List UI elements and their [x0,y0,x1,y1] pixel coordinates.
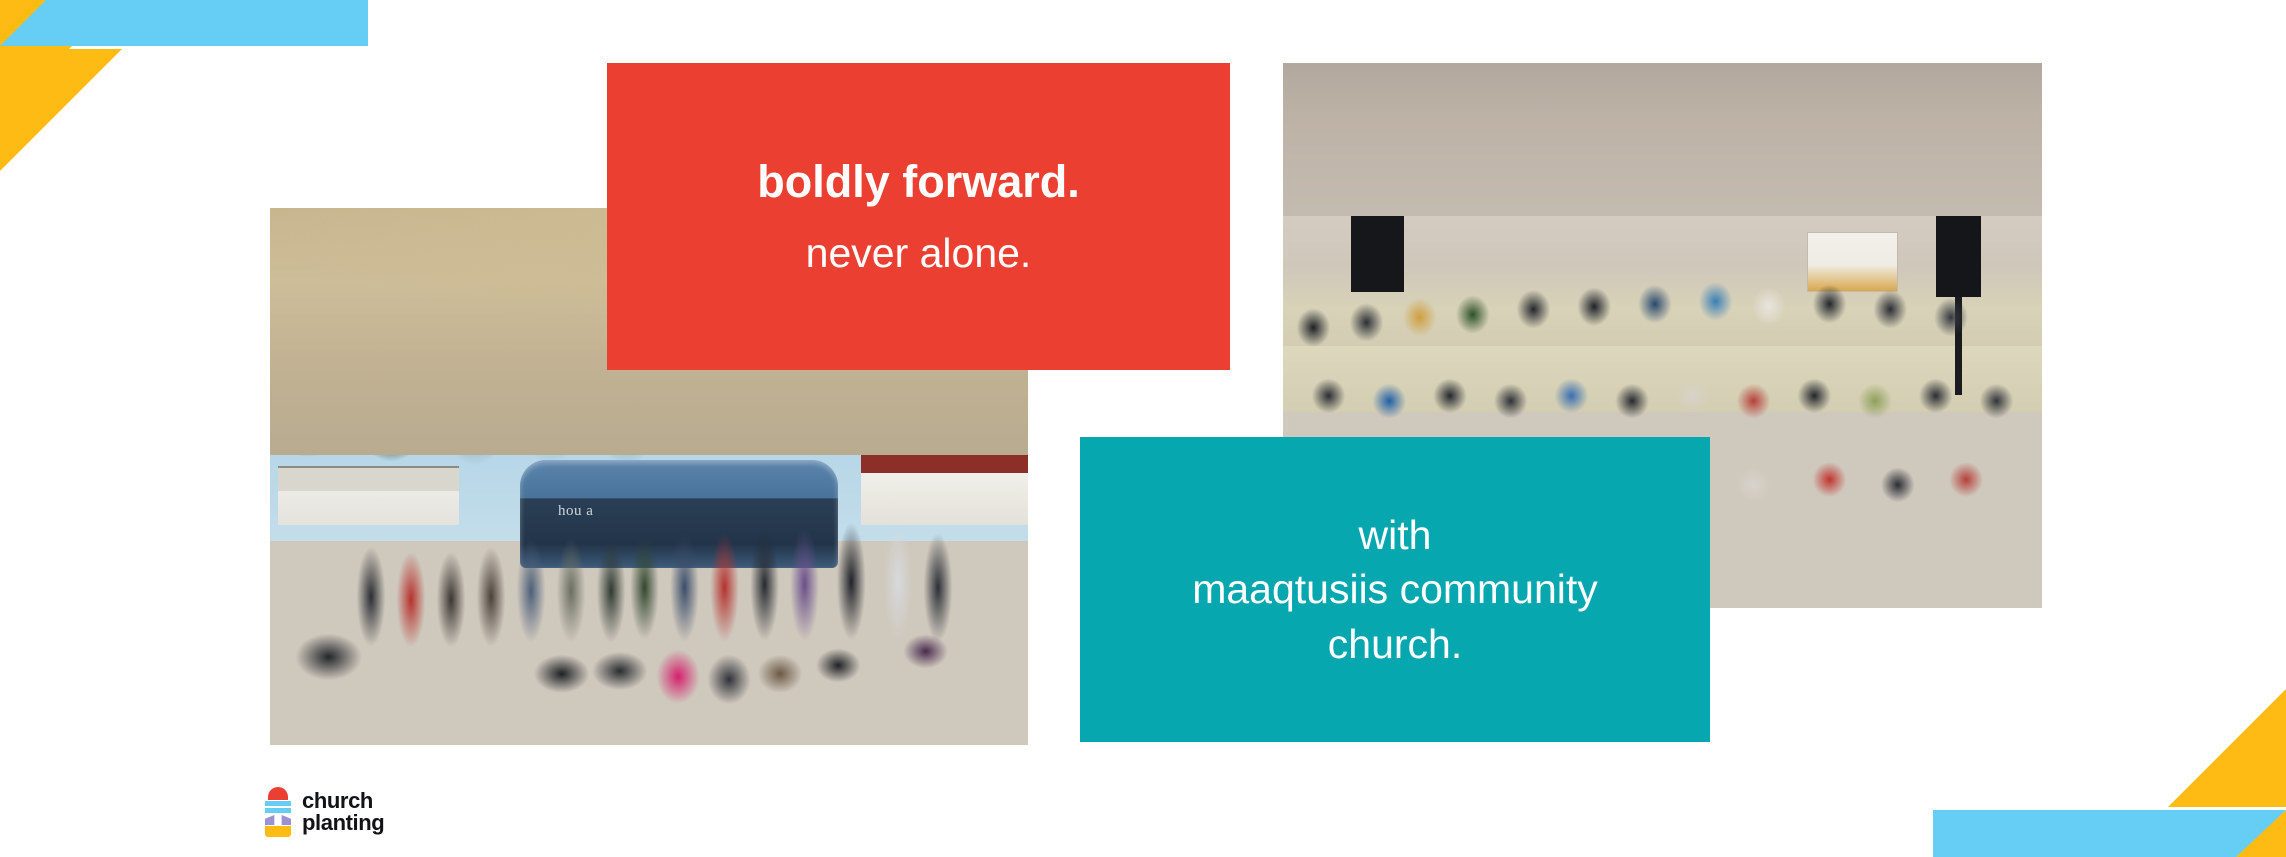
bottom-right-blue-bar [1933,810,2286,857]
bottom-right-yellow-triangle-upper [2168,689,2286,807]
church-planting-logo-mark-icon [265,787,291,837]
callout-teal-line-2: maaqtusiis community [1192,562,1598,616]
logo-mark-yellow-base [265,826,291,837]
logo-mark-cyan-stripe-1 [265,801,291,806]
photo-right-floor [1283,63,2042,216]
callout-box-red: boldly forward. never alone. [607,63,1230,370]
logo-mark-purple-shape [265,815,291,825]
logo-mark-red-roof-shape [268,787,288,800]
photo-left-luggage [285,573,1013,713]
logo-word-church: church [302,790,384,812]
top-left-yellow-triangle-lower [0,49,122,171]
logo-mark-cyan-stripe-2 [265,808,291,813]
callout-red-line-1: boldly forward. [757,158,1080,205]
slide-canvas: hou a TO GOD BE THE GLORY boldly forward… [0,0,2286,857]
callout-red-line-2: never alone. [806,232,1032,275]
church-planting-logo: church planting [265,787,384,837]
callout-teal-line-3: church. [1328,617,1462,671]
logo-wordmark: church planting [302,790,384,834]
top-left-blue-bar [0,0,368,46]
callout-teal-line-1: with [1359,508,1432,562]
callout-box-teal: with maaqtusiis community church. [1080,437,1710,742]
logo-word-planting: planting [302,812,384,834]
